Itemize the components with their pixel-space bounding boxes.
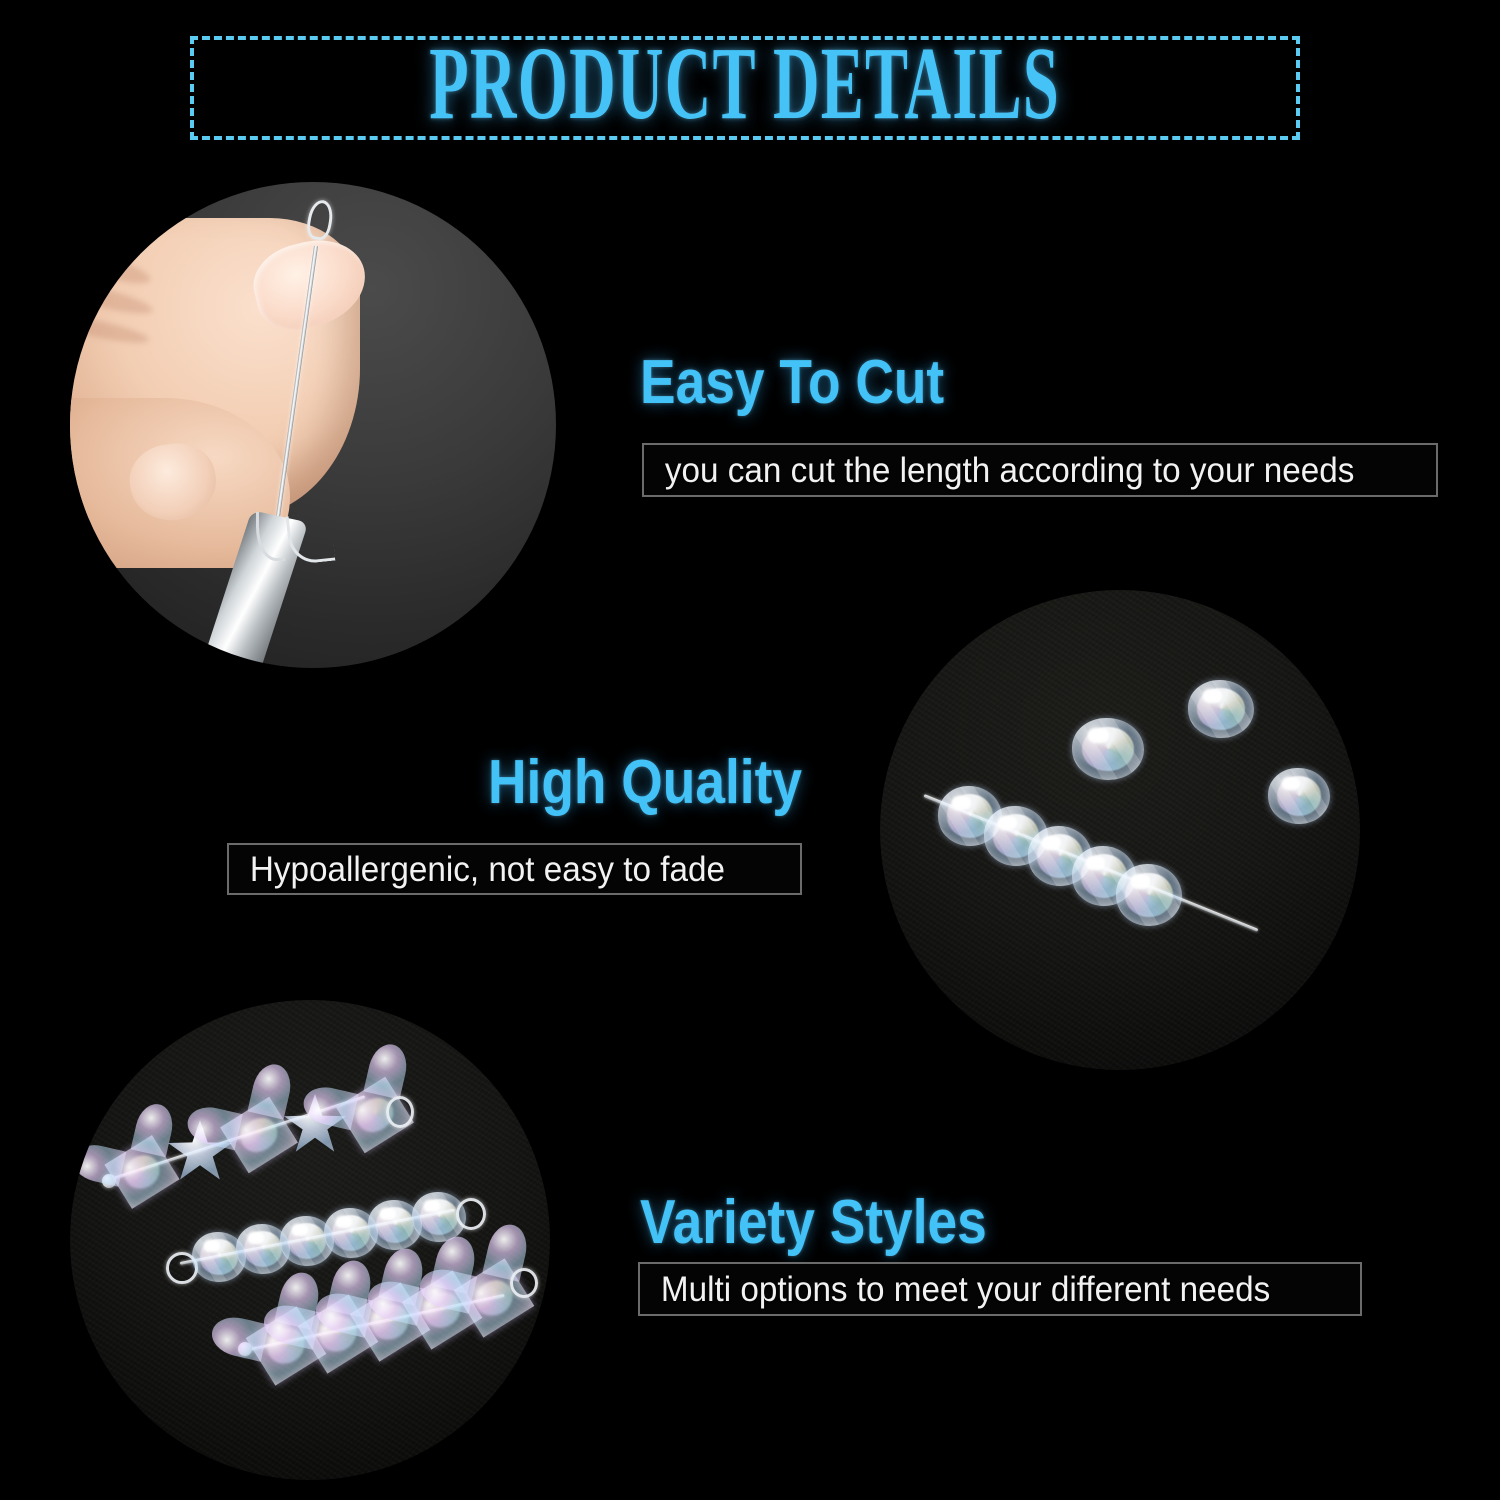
- knuckle-crease: [70, 312, 151, 348]
- feature-heading-easy-to-cut: Easy To Cut: [640, 352, 944, 414]
- product-details-infographic: PRODUCT DETAILS Easy To Cut you can cut …: [0, 0, 1500, 1500]
- loose-bead: [1072, 718, 1144, 780]
- photo-easy-to-cut: [70, 182, 556, 668]
- wire-loop: [456, 1198, 486, 1230]
- feature-subtitle-high-quality: Hypoallergenic, not easy to fade: [229, 852, 725, 887]
- knuckle-crease: [70, 247, 153, 290]
- loose-bead: [1188, 680, 1254, 738]
- feature-subtitle-easy-to-cut: you can cut the length according to your…: [644, 453, 1354, 488]
- wire-loop: [510, 1268, 538, 1298]
- photo-variety-styles: [70, 1000, 550, 1480]
- feature-subtitle-box-high-quality: Hypoallergenic, not easy to fade: [227, 843, 802, 895]
- photo-high-quality: [880, 590, 1360, 1070]
- loose-bead: [1268, 768, 1330, 824]
- page-title: PRODUCT DETAILS: [430, 32, 1061, 136]
- header-banner: PRODUCT DETAILS: [190, 36, 1300, 140]
- feature-subtitle-box-easy-to-cut: you can cut the length according to your…: [642, 443, 1438, 497]
- feature-subtitle-variety-styles: Multi options to meet your different nee…: [640, 1272, 1270, 1307]
- feature-heading-high-quality: High Quality: [488, 752, 802, 814]
- needle-eye-loop: [305, 198, 336, 242]
- feature-subtitle-box-variety-styles: Multi options to meet your different nee…: [638, 1262, 1362, 1316]
- strung-bead: [1116, 864, 1182, 926]
- feature-heading-variety-styles: Variety Styles: [640, 1192, 987, 1254]
- wire-loop: [386, 1096, 414, 1128]
- knuckle-crease: [70, 279, 155, 320]
